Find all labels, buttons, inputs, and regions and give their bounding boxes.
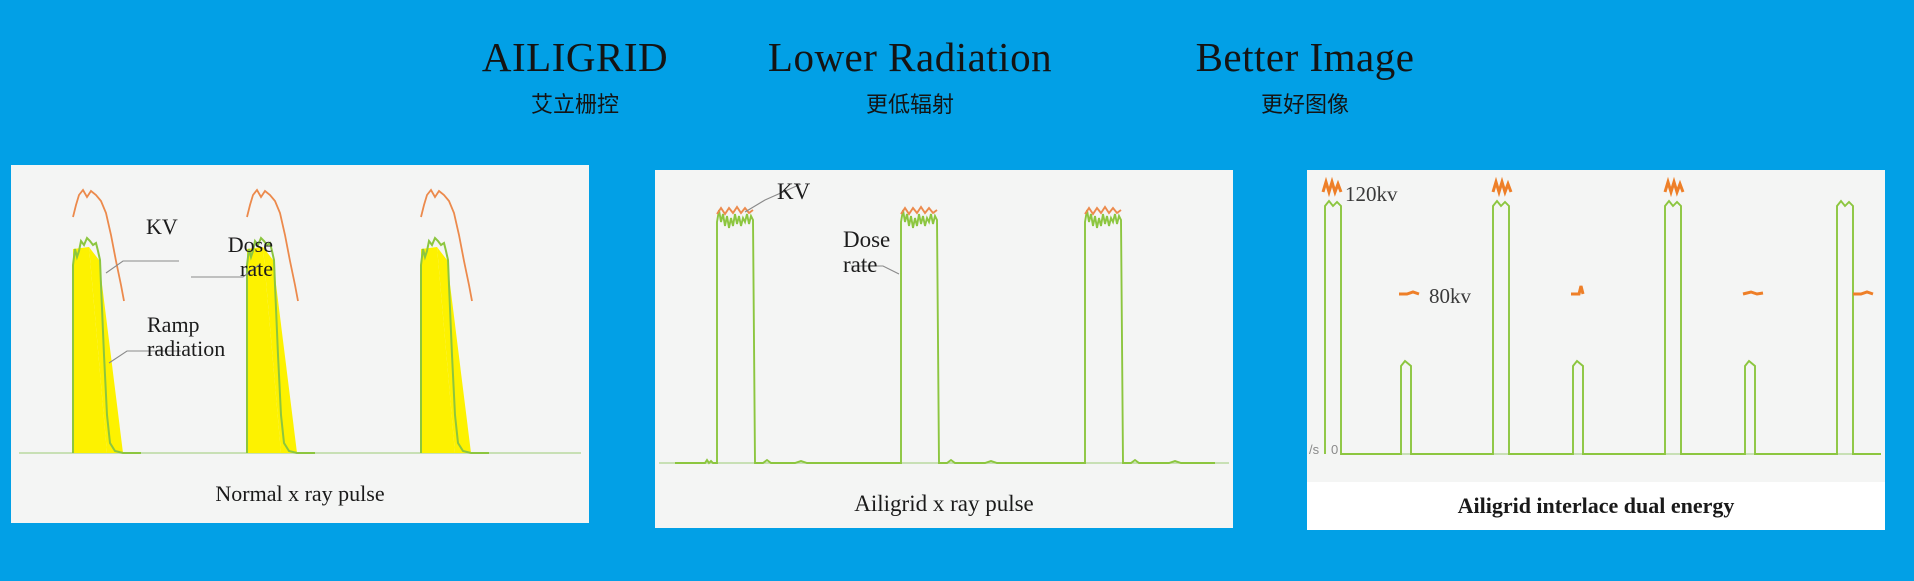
normal-pulse-plot	[11, 165, 589, 465]
legend-label-120kv: 120kv	[1345, 182, 1398, 207]
panel-caption-ailigrid-pulse: Ailigrid x ray pulse	[655, 480, 1233, 528]
axis-zero-tick-label: 0	[1331, 442, 1338, 457]
kv-marker-80-icon	[1399, 292, 1419, 294]
pulse-group-1	[675, 207, 840, 463]
annotation-kv: KV	[146, 215, 178, 239]
kv-marker-80-icon	[1853, 292, 1873, 294]
header-title-cn: 更低辐射	[700, 91, 1120, 121]
header-banner: AILIGRID 艾立栅控 Lower Radiation 更低辐射 Bette…	[0, 0, 1914, 140]
annotation-kv: KV	[777, 180, 810, 205]
header-title-cn: 更好图像	[1095, 91, 1515, 121]
kv-marker-120-icon	[1493, 182, 1511, 192]
header-column-better-image: Better Image 更好图像	[1095, 33, 1515, 121]
dual-energy-pulse-train	[1325, 201, 1881, 454]
pulse-group-3	[421, 190, 489, 453]
axis-unit-label: /s	[1309, 442, 1319, 457]
annotation-ramp-radiation: Ramp radiation	[147, 313, 225, 361]
header-title-en: Better Image	[1095, 33, 1515, 81]
kv-curve	[901, 207, 937, 214]
pulse-group-2	[247, 190, 315, 453]
panel-caption-normal-pulse: Normal x ray pulse	[11, 465, 589, 523]
kv-marker-120-icon	[1665, 182, 1683, 192]
kv-curve	[1085, 207, 1121, 214]
pulse-group-1	[73, 190, 141, 453]
annotation-dose-rate: Dose rate	[843, 228, 890, 278]
header-column-ailigrid: AILIGRID 艾立栅控	[430, 33, 720, 121]
chart-panel-interlace-dual-energy: 120kv 80kv /s 0 Ailigrid interlace dual …	[1307, 170, 1885, 530]
legend-label-80kv: 80kv	[1429, 284, 1471, 309]
header-title-en: AILIGRID	[430, 33, 720, 81]
dose-rate-curve	[675, 210, 840, 463]
header-title-en: Lower Radiation	[700, 33, 1120, 81]
kv-marker-120-icon	[1323, 182, 1341, 192]
annotation-dose-rate: Dose rate	[187, 233, 273, 281]
chart-panel-ailigrid-pulse: KV Dose rate Ailigrid x ray pulse	[655, 170, 1233, 528]
header-column-lower-radiation: Lower Radiation 更低辐射	[700, 33, 1120, 121]
dose-rate-curve	[1025, 210, 1215, 463]
header-title-cn: 艾立栅控	[430, 91, 720, 121]
panel-caption-interlace-dual-energy: Ailigrid interlace dual energy	[1307, 482, 1885, 530]
kv-marker-80-icon	[1743, 292, 1763, 294]
chart-panel-normal-pulse: KV Dose rate Ramp radiation Normal x ray…	[11, 165, 589, 523]
ailigrid-pulse-plot	[655, 170, 1233, 480]
kv-marker-80-icon	[1571, 286, 1583, 294]
pulse-group-3	[1025, 207, 1215, 463]
interlace-dual-energy-plot	[1307, 170, 1885, 482]
